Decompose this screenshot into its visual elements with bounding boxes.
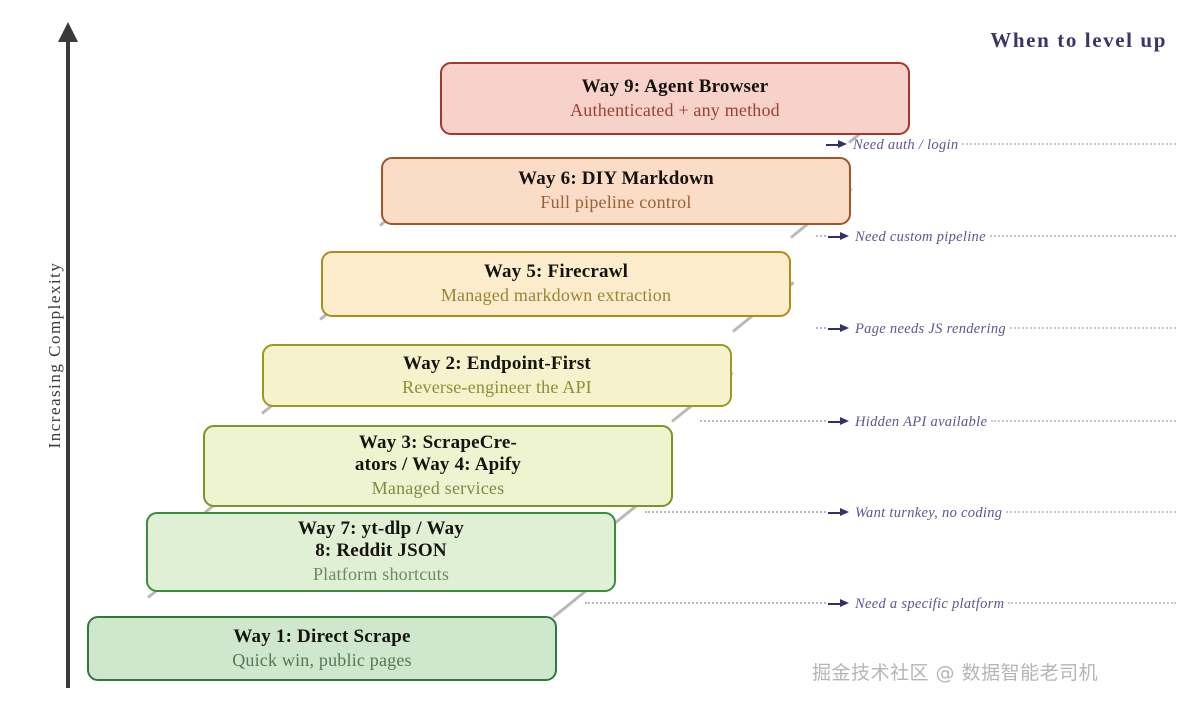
step-title: Way 5: Firecrawl: [484, 261, 628, 283]
step-box-way-5[interactable]: Way 5: Firecrawl Managed markdown extrac…: [321, 251, 791, 317]
leader-dots-lead: [816, 235, 826, 239]
step-box-way-7-8[interactable]: Way 7: yt-dlp / Way 8: Reddit JSON Platf…: [146, 512, 616, 592]
annotation-label: Need auth / login: [853, 137, 958, 154]
page-title: When to level up: [990, 28, 1167, 53]
step-title-line-1: Way 7: yt-dlp / Way: [298, 518, 464, 540]
leader-dots-lead: [700, 420, 826, 424]
arrow-right-icon: [828, 323, 850, 335]
step-title-line-2: 8: Reddit JSON: [298, 540, 464, 562]
step-title: Way 6: DIY Markdown: [518, 168, 714, 190]
step-subtitle: Authenticated + any method: [570, 100, 780, 121]
step-subtitle: Platform shortcuts: [313, 564, 449, 585]
arrow-right-icon: [828, 598, 850, 610]
annotation-label: Page needs JS rendering: [855, 321, 1006, 338]
annotation-want-turnkey: Want turnkey, no coding: [645, 504, 1176, 522]
step-box-way-6[interactable]: Way 6: DIY Markdown Full pipeline contro…: [381, 157, 851, 225]
step-title: Way 7: yt-dlp / Way 8: Reddit JSON: [298, 518, 464, 562]
arrow-right-icon: [828, 231, 850, 243]
arrow-right-icon: [826, 139, 848, 151]
annotation-need-specific-platform: Need a specific platform: [585, 595, 1176, 613]
arrow-right-icon: [828, 507, 850, 519]
y-axis-arrow-icon: [58, 22, 78, 42]
annotation-label: Want turnkey, no coding: [855, 505, 1002, 522]
leader-dots: [990, 235, 1176, 239]
leader-dots: [1006, 511, 1176, 515]
step-subtitle: Managed markdown extraction: [441, 285, 671, 306]
step-title: Way 1: Direct Scrape: [233, 626, 410, 648]
annotation-need-custom-pipeline: Need custom pipeline: [816, 228, 1176, 246]
step-title-line-1: Way 3: ScrapeCre-: [355, 432, 521, 454]
step-box-way-9[interactable]: Way 9: Agent Browser Authenticated + any…: [440, 62, 910, 135]
leader-dots-lead: [645, 511, 826, 515]
leader-dots-lead: [816, 327, 826, 331]
arrow-right-icon: [828, 416, 850, 428]
leader-dots: [1010, 327, 1176, 331]
leader-dots: [962, 143, 1176, 147]
step-title: Way 3: ScrapeCre- ators / Way 4: Apify: [355, 432, 521, 476]
leader-dots: [1008, 602, 1176, 606]
leader-dots-lead: [585, 602, 826, 606]
step-box-way-2[interactable]: Way 2: Endpoint-First Reverse-engineer t…: [262, 344, 732, 407]
diagram-canvas: When to level up Increasing Complexity W…: [0, 0, 1199, 713]
watermark: 掘金技术社区 @ 数据智能老司机: [812, 658, 1098, 685]
annotation-page-needs-js: Page needs JS rendering: [816, 320, 1176, 338]
step-title-line-2: ators / Way 4: Apify: [355, 454, 521, 476]
step-title: Way 9: Agent Browser: [582, 76, 769, 98]
step-subtitle: Reverse-engineer the API: [402, 377, 592, 398]
step-title: Way 2: Endpoint-First: [403, 353, 591, 375]
annotation-hidden-api: Hidden API available: [700, 413, 1176, 431]
annotation-label: Hidden API available: [855, 414, 987, 431]
step-subtitle: Full pipeline control: [540, 192, 691, 213]
y-axis-label: Increasing Complexity: [45, 190, 65, 520]
annotation-label: Need custom pipeline: [855, 229, 986, 246]
step-box-way-3-4[interactable]: Way 3: ScrapeCre- ators / Way 4: Apify M…: [203, 425, 673, 507]
step-subtitle: Quick win, public pages: [232, 650, 412, 671]
annotation-label: Need a specific platform: [855, 596, 1004, 613]
step-box-way-1[interactable]: Way 1: Direct Scrape Quick win, public p…: [87, 616, 557, 681]
leader-dots: [991, 420, 1176, 424]
y-axis-line: [66, 36, 70, 688]
step-subtitle: Managed services: [372, 478, 505, 499]
annotation-need-auth: Need auth / login: [826, 136, 1176, 154]
